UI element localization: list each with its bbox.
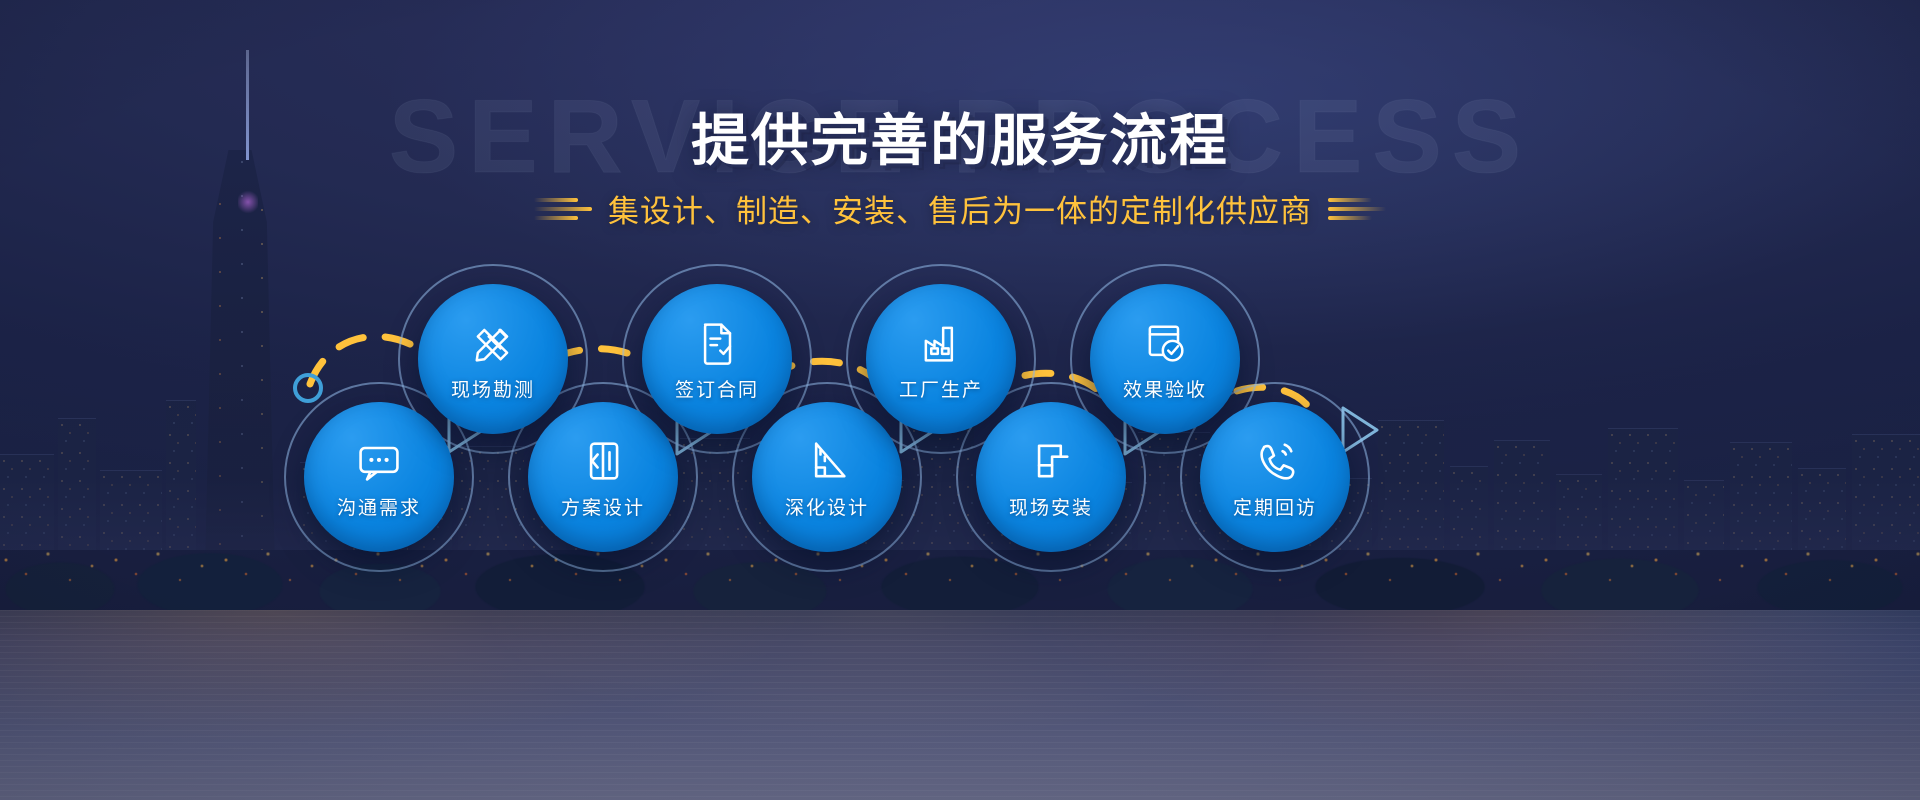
contract-document-icon bbox=[691, 317, 743, 369]
process-step-3-label: 方案设计 bbox=[561, 493, 645, 520]
process-step-5-label: 深化设计 bbox=[785, 493, 869, 520]
water-reflection bbox=[0, 610, 1920, 800]
process-step-9-label: 定期回访 bbox=[1233, 493, 1317, 520]
process-step-6-label: 工厂生产 bbox=[899, 375, 983, 402]
subtitle-row: 集设计、制造、安装、售后为一体的定制化供应商 bbox=[0, 186, 1920, 231]
process-step-4[interactable]: 签订合同 bbox=[642, 284, 792, 434]
service-process-banner: SERVICE PROCESS 提供完善的服务流程 集设计、制造、安装、售后为一… bbox=[0, 0, 1920, 800]
ruler-pencil-icon bbox=[467, 317, 519, 369]
process-step-3[interactable]: 方案设计 bbox=[528, 402, 678, 552]
page-subtitle: 集设计、制造、安装、售后为一体的定制化供应商 bbox=[608, 186, 1312, 231]
install-tool-icon bbox=[1025, 435, 1077, 487]
process-step-8-label: 效果验收 bbox=[1123, 375, 1207, 402]
subtitle-dash-left-icon bbox=[534, 198, 592, 220]
subtitle-dash-right-icon bbox=[1328, 198, 1386, 220]
chat-bubble-icon bbox=[353, 435, 405, 487]
treeline-lights bbox=[0, 540, 1920, 614]
process-step-2[interactable]: 现场勘测 bbox=[418, 284, 568, 434]
process-step-9[interactable]: 定期回访 bbox=[1200, 402, 1350, 552]
phone-call-icon bbox=[1249, 435, 1301, 487]
page-title: 提供完善的服务流程 bbox=[0, 96, 1920, 177]
process-step-1[interactable]: 沟通需求 bbox=[304, 402, 454, 552]
factory-icon bbox=[915, 317, 967, 369]
process-step-5[interactable]: 深化设计 bbox=[752, 402, 902, 552]
process-step-8[interactable]: 效果验收 bbox=[1090, 284, 1240, 434]
process-step-7[interactable]: 现场安装 bbox=[976, 402, 1126, 552]
checked-document-icon bbox=[1139, 317, 1191, 369]
process-step-2-label: 现场勘测 bbox=[451, 375, 535, 402]
process-step-1-label: 沟通需求 bbox=[337, 493, 421, 520]
process-step-6[interactable]: 工厂生产 bbox=[866, 284, 1016, 434]
process-flow: 沟通需求 现场勘测 bbox=[0, 248, 1920, 538]
set-square-icon bbox=[801, 435, 853, 487]
layout-design-icon bbox=[577, 435, 629, 487]
process-step-7-label: 现场安装 bbox=[1009, 493, 1093, 520]
process-step-4-label: 签订合同 bbox=[675, 375, 759, 402]
